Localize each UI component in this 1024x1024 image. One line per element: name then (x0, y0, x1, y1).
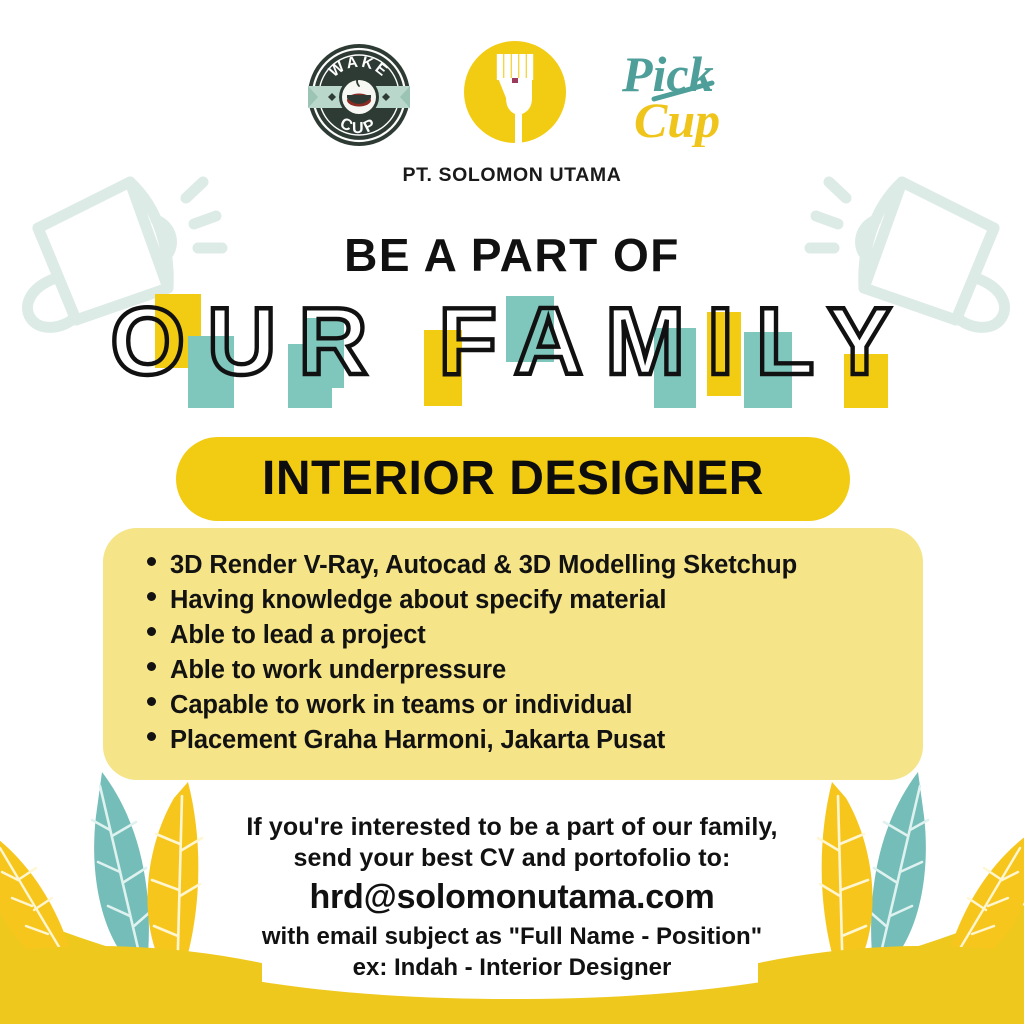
logo-row: WAKE CUP Pick Cup (0, 36, 1024, 154)
requirement-text: Able to lead a project (170, 618, 426, 653)
headline-subtitle: BE A PART OF (0, 228, 1024, 282)
requirement-text: Placement Graha Harmoni, Jakarta Pusat (170, 723, 665, 758)
fork-circle-logo (456, 36, 574, 154)
bullet-icon (147, 592, 156, 601)
bullet-icon (147, 662, 156, 671)
requirements-box: 3D Render V-Ray, Autocad & 3D Modelling … (103, 528, 923, 780)
list-item: Capable to work in teams or individual (147, 688, 923, 723)
pick-cup-word-2: Cup (634, 92, 720, 147)
footer-contact-block: If you're interested to be a part of our… (0, 812, 1024, 983)
footer-email[interactable]: hrd@solomonutama.com (0, 874, 1024, 921)
pick-cup-logo: Pick Cup (616, 43, 720, 147)
list-item: Able to lead a project (147, 618, 923, 653)
list-item: Able to work underpressure (147, 653, 923, 688)
job-title-banner: INTERIOR DESIGNER (176, 437, 850, 521)
requirement-text: Capable to work in teams or individual (170, 688, 632, 723)
requirement-text: Able to work underpressure (170, 653, 506, 688)
list-item: Having knowledge about specify material (147, 583, 923, 618)
job-title-text: INTERIOR DESIGNER (262, 451, 764, 506)
footer-line-5: ex: Indah - Interior Designer (0, 952, 1024, 983)
bullet-icon (147, 732, 156, 741)
headline-our-family: OUR FAMILY (0, 288, 1024, 408)
list-item: 3D Render V-Ray, Autocad & 3D Modelling … (147, 548, 923, 583)
bullet-icon (147, 627, 156, 636)
poster-canvas: WAKE CUP Pick Cup PT. SOL (0, 0, 1024, 1024)
footer-line-2: send your best CV and portofolio to: (0, 843, 1024, 874)
bullet-icon (147, 697, 156, 706)
list-item: Placement Graha Harmoni, Jakarta Pusat (147, 723, 923, 758)
bullet-icon (147, 557, 156, 566)
footer-line-1: If you're interested to be a part of our… (0, 812, 1024, 843)
wake-cup-logo: WAKE CUP (304, 40, 414, 150)
headline-main-text: OUR FAMILY (110, 288, 913, 395)
requirement-text: Having knowledge about specify material (170, 583, 666, 618)
requirement-text: 3D Render V-Ray, Autocad & 3D Modelling … (170, 548, 797, 583)
requirements-list: 3D Render V-Ray, Autocad & 3D Modelling … (103, 548, 923, 758)
footer-line-4: with email subject as "Full Name - Posit… (0, 921, 1024, 952)
company-name: PT. SOLOMON UTAMA (0, 164, 1024, 187)
